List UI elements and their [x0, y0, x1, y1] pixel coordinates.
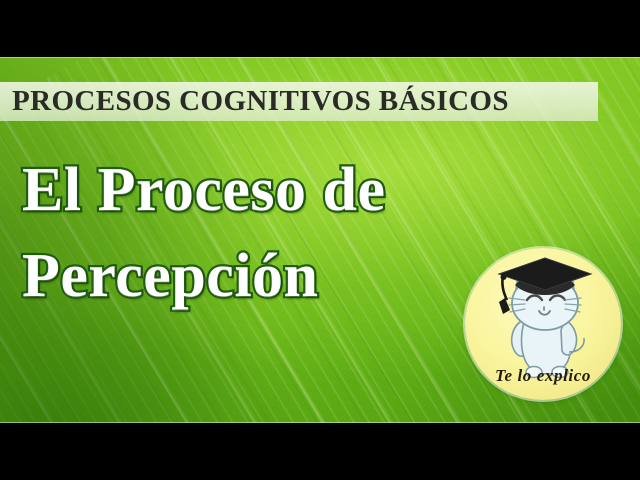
- stage-edge-top: [0, 57, 640, 58]
- video-thumbnail-frame: PROCESOS COGNITIVOS BÁSICOS El Proceso d…: [0, 0, 640, 480]
- title-line-2: Percepción: [22, 233, 492, 319]
- channel-logo: Te lo explico: [465, 248, 621, 400]
- title-line-1: El Proceso de: [22, 147, 492, 233]
- logo-caption: Te lo explico: [465, 366, 621, 386]
- letterbox-bar-top: [0, 0, 640, 57]
- leaf-background: PROCESOS COGNITIVOS BÁSICOS El Proceso d…: [0, 57, 640, 423]
- banner-title: PROCESOS COGNITIVOS BÁSICOS: [12, 84, 509, 117]
- letterbox-bar-bottom: [0, 423, 640, 480]
- page-title: El Proceso de Percepción: [22, 147, 492, 319]
- banner-strip: PROCESOS COGNITIVOS BÁSICOS: [0, 82, 598, 121]
